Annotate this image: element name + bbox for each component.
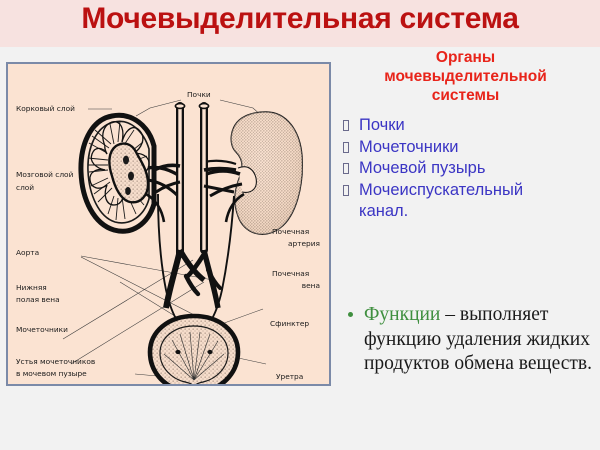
- label-ureters: Мочеточники: [16, 325, 68, 334]
- list-item: Мочеиспускательный канал.: [342, 180, 600, 223]
- label-vena-cava-2: полая вена: [16, 295, 60, 304]
- label-vena-cava-1: Нижняя: [16, 283, 47, 292]
- kidney-cross-section: [81, 115, 180, 231]
- content-column: Органы мочевыделительной системы Почки М…: [338, 48, 600, 448]
- label-kidneys: Почки: [187, 90, 211, 99]
- label-orifices-2: в мочевом пузыре: [16, 369, 87, 378]
- label-cortex: Корковый слой: [16, 104, 75, 113]
- organs-heading-line-2: мочевыделительной: [384, 68, 547, 85]
- page-title: Мочевыделительная система: [0, 2, 600, 36]
- functions-paragraph: Функции – выполняет функцию удаления жид…: [344, 303, 596, 377]
- ureteric-orifice-right: [207, 350, 212, 354]
- title-band: Мочевыделительная система: [0, 0, 600, 47]
- label-orifices-1: Устья мочеточников: [16, 357, 95, 366]
- bullet-box-icon: [343, 185, 349, 196]
- bullet-dot-icon: [348, 312, 353, 317]
- list-item: Мочеточники: [342, 137, 600, 159]
- urinary-system-illustration: Почки Корковый слой Мозговой слой Аорта …: [8, 64, 329, 384]
- label-renal-vein-2: вена: [302, 281, 320, 290]
- urinary-system-diagram-panel: Почки Корковый слой Мозговой слой Аорта …: [6, 62, 331, 386]
- list-item-label: Мочевой пузырь: [359, 159, 485, 177]
- organs-heading-line-1: Органы: [436, 49, 495, 66]
- list-item: Почки: [342, 115, 600, 137]
- list-item: Мочевой пузырь: [342, 158, 600, 180]
- label-renal-artery-1: Почечная: [272, 227, 309, 236]
- label-renal-vein-1: Почечная: [272, 269, 309, 278]
- ureters: [158, 194, 234, 322]
- label-medulla-line2: слой: [16, 183, 34, 192]
- label-aorta: Аорта: [16, 248, 39, 257]
- functions-block: Функции – выполняет функцию удаления жид…: [344, 303, 596, 377]
- list-item-label: Мочеточники: [359, 138, 459, 156]
- list-item-label: Мочеиспускательный: [359, 181, 523, 199]
- bladder: [150, 316, 238, 384]
- bullet-box-icon: [343, 142, 349, 153]
- list-item-label: Почки: [359, 116, 405, 134]
- organs-heading-line-3: системы: [432, 87, 499, 104]
- label-medulla-1: Мозговой слой: [16, 170, 74, 179]
- list-item-label-continuation: канал.: [359, 201, 600, 223]
- functions-lead-word: Функции: [364, 304, 440, 325]
- organs-heading: Органы мочевыделительной системы: [338, 48, 593, 105]
- label-sphincter: Сфинктер: [270, 319, 309, 328]
- bullet-box-icon: [343, 120, 349, 131]
- kidney-solid: [204, 112, 302, 234]
- label-renal-artery-2: артерия: [288, 239, 320, 248]
- organs-list: Почки Мочеточники Мочевой пузырь Мочеисп…: [342, 115, 600, 223]
- ureteric-orifice-left: [175, 350, 180, 354]
- bullet-box-icon: [343, 163, 349, 174]
- label-urethra: Уретра: [276, 372, 303, 381]
- slide-root: Мочевыделительная система: [0, 0, 600, 450]
